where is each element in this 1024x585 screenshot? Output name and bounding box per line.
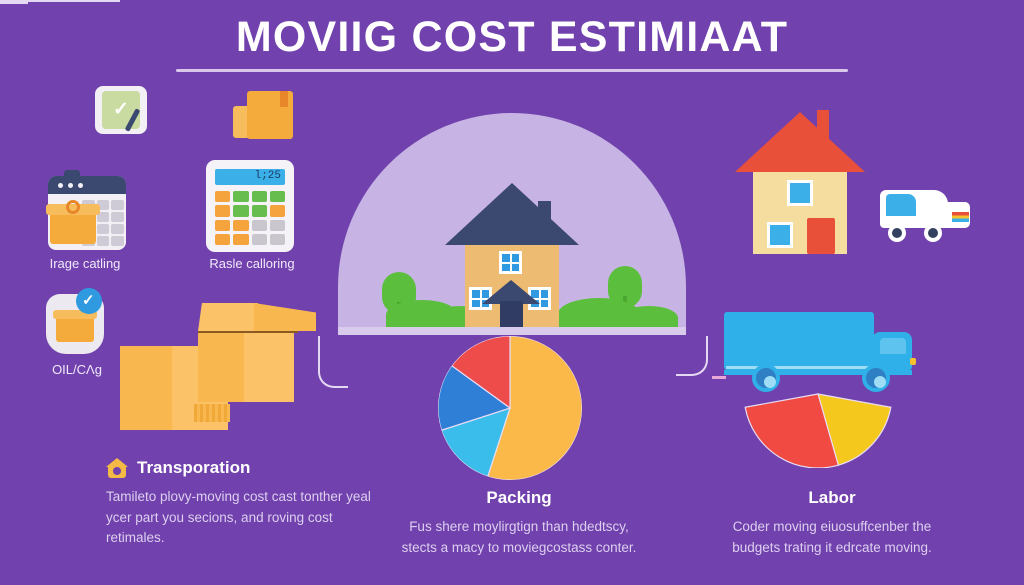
- calculator-key: [215, 220, 230, 231]
- calculator-key: [252, 205, 267, 216]
- cardboard-box-flap-left: [198, 303, 258, 331]
- calculator-key: [252, 220, 267, 231]
- calculator-key: [215, 191, 230, 202]
- section-header: Labor: [708, 488, 956, 508]
- section-header: Transporation: [106, 458, 374, 478]
- calculator-key: [215, 205, 230, 216]
- truck-headlight: [910, 358, 916, 365]
- calculator-key: [233, 191, 248, 202]
- calculator-screen-value: l;25: [255, 170, 281, 182]
- truck-cargo-box: [724, 312, 874, 370]
- icon-caption-secure: OIL/CΛg: [52, 362, 102, 377]
- title-underline-divider: [176, 69, 848, 72]
- cardboard-boxes-illustration: [120, 300, 330, 430]
- section-header: Packing: [400, 488, 638, 508]
- calendar-gift-icon: Irage catling: [36, 170, 134, 254]
- connector-line-right: [676, 336, 708, 376]
- calendar-cell: [97, 236, 110, 246]
- calendar-cell: [111, 200, 124, 210]
- title-block: MOVIIG COST ESTIMIAAT: [176, 14, 848, 72]
- calculator-icon: l;25 Rasle calloring: [206, 160, 298, 256]
- calculator-key: [233, 234, 248, 245]
- house-door: [807, 218, 835, 254]
- section-body-text: Fus shere moylirgtign than hdedtscy, ste…: [400, 517, 638, 558]
- van-window: [886, 194, 916, 216]
- calculator-key: [215, 234, 230, 245]
- ground-line: [338, 327, 686, 335]
- calculator-key: [252, 191, 267, 202]
- calculator-key: [270, 191, 285, 202]
- calculator-screen: l;25: [215, 169, 285, 185]
- calendar-dot: [68, 183, 73, 188]
- calculator-key: [270, 205, 285, 216]
- moving-truck-illustration: [724, 312, 920, 404]
- page-title: MOVIIG COST ESTIMIAAT: [176, 14, 848, 60]
- calendar-cell: [111, 236, 124, 246]
- house-roof: [735, 112, 865, 172]
- stacked-boxes-icon: [233, 88, 295, 142]
- van-wheel-rear: [924, 224, 942, 242]
- section-packing: Packing Fus shere moylirgtign than hdedt…: [400, 488, 638, 558]
- truck-cargo-trim: [726, 366, 872, 369]
- calculator-key: [233, 205, 248, 216]
- calculator-key: [252, 234, 267, 245]
- checkmark-icon: ✓: [82, 289, 95, 313]
- calculator-key: [270, 220, 285, 231]
- van-stripe: [952, 212, 969, 222]
- calendar-dot: [58, 183, 63, 188]
- destination-house-illustration: [735, 112, 865, 254]
- calendar-cell: [97, 224, 110, 234]
- section-title: Packing: [486, 488, 551, 508]
- section-transportation: Transporation Tamileto plovy-moving cost…: [106, 458, 374, 549]
- connector-line-right-arm: [0, 2, 28, 4]
- calendar-cell: [111, 212, 124, 222]
- section-body-text: Tamileto plovy-moving cost cast tonther …: [106, 487, 374, 549]
- house-window-top: [787, 180, 813, 206]
- icon-aperture: [113, 467, 121, 475]
- calculator-keypad: [215, 191, 285, 245]
- gift-ribbon: [66, 200, 80, 214]
- infographic-poster: MOVIIG COST ESTIMIAAT: [0, 0, 1024, 585]
- calendar-dot: [78, 183, 83, 188]
- section-labor: Labor Coder moving eiuosuffcenber the bu…: [708, 488, 956, 558]
- large-box: [247, 91, 293, 139]
- cardboard-box-open-side: [244, 330, 294, 402]
- section-body-text: Coder moving eiuosuffcenber the budgets …: [708, 517, 956, 558]
- section-title: Transporation: [137, 458, 250, 478]
- pie-slices: [438, 336, 582, 480]
- truck-cab-window: [880, 338, 906, 354]
- truck-wheel-front: [862, 364, 890, 392]
- house-window-left: [767, 222, 793, 248]
- house-window-top: [499, 251, 522, 274]
- cost-breakdown-pie-chart: [438, 336, 582, 480]
- house-camera-icon: [106, 458, 128, 478]
- verified-badge-icon: ✓: [76, 288, 102, 314]
- cardboard-box-tape: [194, 404, 230, 422]
- secure-box-badge-icon: ✓ OIL/CΛg: [40, 288, 114, 362]
- calculator-key: [233, 220, 248, 231]
- van-wheel-front: [888, 224, 906, 242]
- truck-motion-dash: [712, 376, 726, 379]
- house-door: [500, 301, 523, 328]
- icon-caption-calculator: Rasle calloring: [209, 256, 294, 271]
- cardboard-box-flap-right: [254, 303, 316, 331]
- section-title: Labor: [808, 488, 855, 508]
- note-checklist-icon: ✓: [95, 86, 151, 136]
- checkmark-icon: ✓: [113, 100, 129, 119]
- truck-wheel-rear: [752, 364, 780, 392]
- house-illustration: [445, 183, 579, 328]
- icon-caption-calendar: Irage catling: [50, 256, 121, 271]
- delivery-van-illustration: [880, 182, 972, 254]
- calendar-cell: [111, 224, 124, 234]
- house-roof: [445, 183, 579, 245]
- calculator-key: [270, 234, 285, 245]
